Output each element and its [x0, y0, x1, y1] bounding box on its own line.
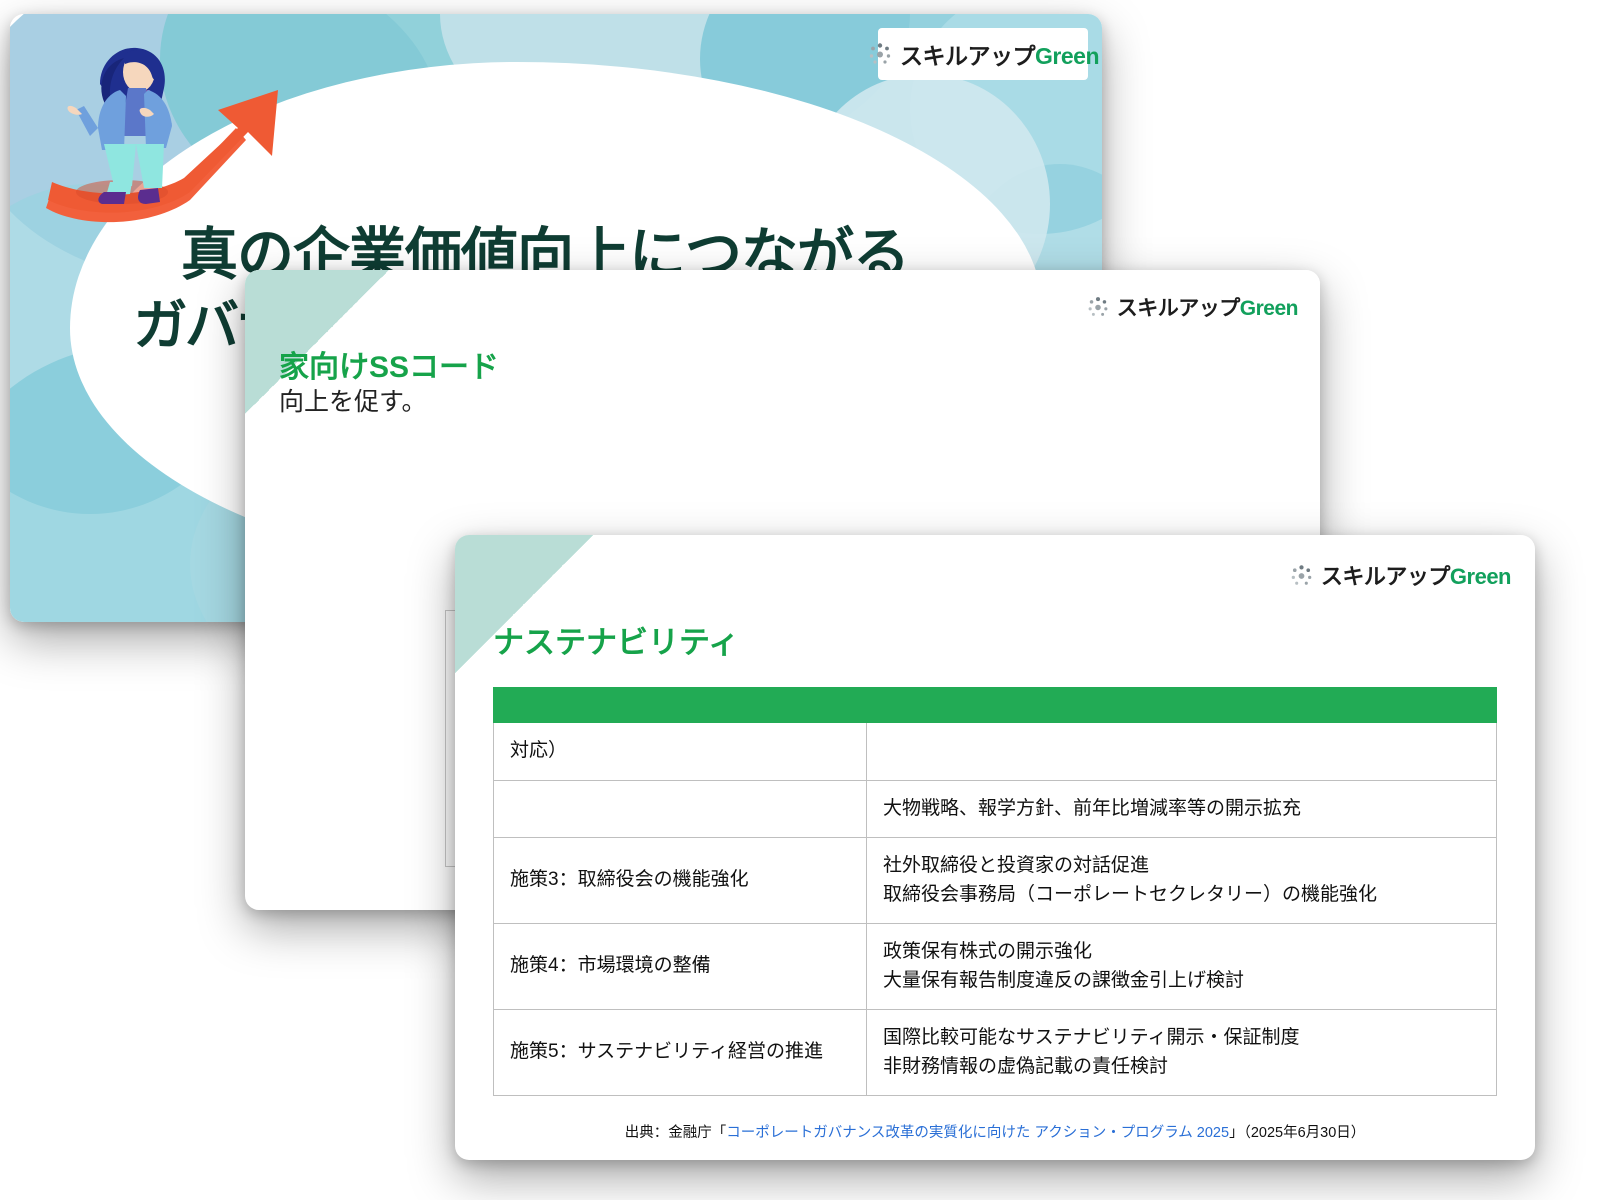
brand-logo-slide3: スキルアップGreen: [1289, 559, 1511, 591]
hidden-fragment: 対応）: [510, 740, 567, 761]
details-line1: 国際比較可能なサステナビリティ開示・保証制度: [883, 1027, 1299, 1048]
measure-cell: 施策3：取締役会の機能強化: [494, 838, 867, 924]
burst-dots-logo-icon: [1086, 295, 1110, 319]
woman-on-rising-arrow-illustration: [40, 32, 300, 232]
brand-name-en: Green: [1035, 43, 1099, 69]
slide2-title: 家向けSSコード: [279, 342, 499, 386]
corner-accent: [455, 535, 605, 685]
header-cell: [867, 688, 1497, 723]
details-cell: [867, 723, 1497, 781]
source-suffix: 」（2025年6月30日）: [1229, 1125, 1365, 1141]
table-header-row: [494, 688, 1497, 723]
table-row: 大物戦略、報学方針、前年比増減率等の開示拡充: [494, 780, 1497, 838]
brand-logo-slide1: スキルアップGreen: [878, 28, 1088, 80]
details-line2: 大量保有報告制度違反の課徴金引上げ検討: [883, 970, 1244, 991]
source-link[interactable]: コーポレートガバナンス改革の実質化に向けた アクション・プログラム 2025: [726, 1125, 1229, 1141]
details-line2: 取締役会事務局（コーポレートセクレタリー）の機能強化: [883, 884, 1377, 905]
burst-dots-logo-icon: [1289, 563, 1314, 588]
brand-name-jp: スキルアップ: [900, 43, 1035, 69]
slide-card-3[interactable]: スキルアップGreen ナステナビリティ 対応） 大物戦略、報学方針、前年比増減…: [455, 535, 1535, 1160]
table-row: 施策4：市場環境の整備 政策保有株式の開示強化大量保有報告制度違反の課徴金引上げ…: [494, 924, 1497, 1010]
slide2-subtitle: 向上を促す。: [279, 382, 427, 418]
details-cell: 政策保有株式の開示強化大量保有報告制度違反の課徴金引上げ検討: [867, 924, 1497, 1010]
slide3-source: 出典：金融庁「コーポレートガバナンス改革の実質化に向けた アクション・プログラム…: [455, 1121, 1535, 1142]
details-line1: 大物戦略、報学方針、前年比増減率等の開示拡充: [883, 798, 1301, 819]
measure-cell: [494, 780, 867, 838]
details-cell: 社外取締役と投資家の対話促進取締役会事務局（コーポレートセクレタリー）の機能強化: [867, 838, 1497, 924]
slide3-title: ナステナビリティ: [493, 617, 739, 662]
measure-cell: 施策4：市場環境の整備: [494, 924, 867, 1010]
measure-cell: 施策5：サステナビリティ経営の推進: [494, 1010, 867, 1096]
brand-name-jp: スキルアップ: [1117, 297, 1240, 320]
table-row: 対応）: [494, 723, 1497, 781]
burst-dots-logo-icon: [867, 41, 893, 67]
slide2-header: スキルアップGreen 家向けSSコード 向上を促す。: [245, 270, 1320, 570]
details-line1: 政策保有株式の開示強化: [883, 941, 1092, 962]
table-row: 施策3：取締役会の機能強化 社外取締役と投資家の対話促進取締役会事務局（コーポレ…: [494, 838, 1497, 924]
header-cell: [494, 688, 867, 723]
measure-cell: 対応）: [494, 723, 867, 781]
details-cell: 国際比較可能なサステナビリティ開示・保証制度非財務情報の虚偽記載の責任検討: [867, 1010, 1497, 1096]
source-prefix: 出典：金融庁「: [625, 1125, 727, 1141]
brand-logo-slide2: スキルアップGreen: [1086, 292, 1298, 322]
brand-name-jp: スキルアップ: [1321, 564, 1450, 589]
details-line2: 非財務情報の虚偽記載の責任検討: [883, 1056, 1168, 1077]
brand-name-en: Green: [1240, 297, 1298, 320]
details-cell: 大物戦略、報学方針、前年比増減率等の開示拡充: [867, 780, 1497, 838]
screenshot-stage: スキルアップGreen 真の企業価値向上につながる ガバナンス・スチュワードシッ…: [0, 0, 1600, 1200]
measures-table: 対応） 大物戦略、報学方針、前年比増減率等の開示拡充 施策3：取締役会の機能強化…: [493, 687, 1497, 1096]
table-row: 施策5：サステナビリティ経営の推進 国際比較可能なサステナビリティ開示・保証制度…: [494, 1010, 1497, 1096]
brand-name-en: Green: [1450, 564, 1511, 589]
details-line1: 社外取締役と投資家の対話促進: [883, 855, 1149, 876]
